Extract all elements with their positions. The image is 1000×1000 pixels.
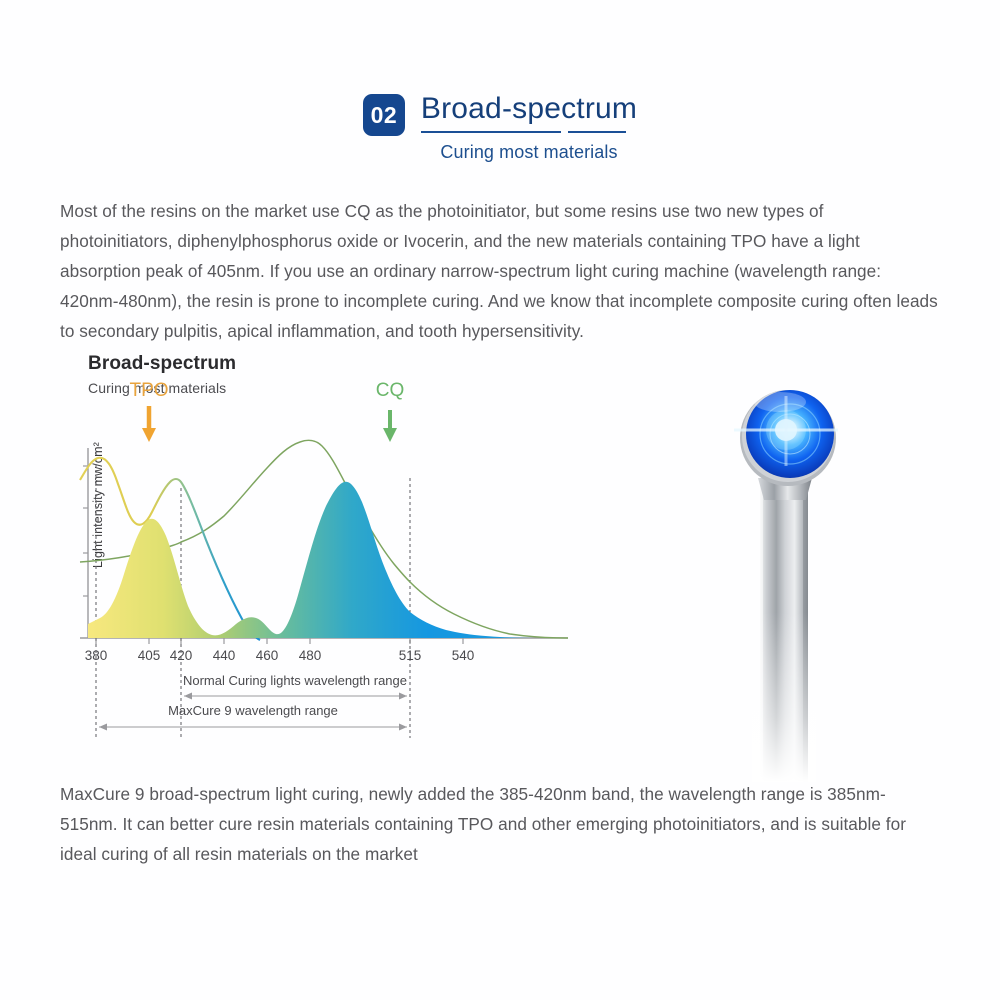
x-tick-label: 405 bbox=[138, 648, 161, 663]
range-normal-curing-label: Normal Curing lights wavelength range bbox=[183, 673, 407, 688]
annotation-tpo: TPO bbox=[129, 380, 168, 442]
section-header: 02 Broad-spectrum Curing most materials bbox=[0, 92, 1000, 163]
x-tick-label: 380 bbox=[85, 648, 108, 663]
series-maxcure-output bbox=[88, 482, 560, 638]
x-tick-label: 515 bbox=[399, 648, 422, 663]
handpiece-fade bbox=[752, 612, 816, 782]
spectrum-chart: Broad-spectrum Curing most materials Lig… bbox=[60, 348, 620, 748]
cq-label: CQ bbox=[376, 380, 405, 401]
x-tick-label: 460 bbox=[256, 648, 279, 663]
chart-x-ticks bbox=[96, 638, 463, 644]
section-header-inner: 02 Broad-spectrum Curing most materials bbox=[363, 92, 637, 163]
title-underline bbox=[421, 131, 637, 133]
summary-paragraph: MaxCure 9 broad-spectrum light curing, n… bbox=[60, 779, 940, 869]
range-maxcure-label: MaxCure 9 wavelength range bbox=[168, 703, 338, 718]
tpo-arrow-head bbox=[142, 428, 156, 442]
chart-y-ticks bbox=[83, 466, 88, 596]
page-title: Broad-spectrum bbox=[421, 92, 637, 126]
page-subtitle: Curing most materials bbox=[421, 142, 637, 163]
cq-arrow-head bbox=[383, 428, 397, 442]
page-root: 02 Broad-spectrum Curing most materials … bbox=[0, 0, 1000, 1000]
range-normal-curing: Normal Curing lights wavelength range bbox=[183, 673, 407, 700]
x-tick-label: 540 bbox=[452, 648, 475, 663]
tpo-label: TPO bbox=[129, 380, 168, 401]
handpiece-illustration bbox=[700, 382, 900, 782]
section-header-text: Broad-spectrum Curing most materials bbox=[421, 92, 637, 163]
range-maxcure: MaxCure 9 wavelength range bbox=[99, 703, 407, 731]
title-underline-segment-right bbox=[568, 131, 626, 133]
chart-x-tick-labels: 380 405 420 440 460 480 515 540 bbox=[85, 648, 475, 663]
title-underline-segment-left bbox=[421, 131, 561, 133]
annotation-cq: CQ bbox=[376, 380, 405, 442]
x-tick-label: 440 bbox=[213, 648, 236, 663]
chart-plot-area: TPO CQ 380 405 420 440 460 480 515 540 bbox=[60, 348, 620, 748]
x-tick-label: 420 bbox=[170, 648, 193, 663]
section-number-badge: 02 bbox=[363, 94, 405, 136]
intro-paragraph: Most of the resins on the market use CQ … bbox=[60, 196, 940, 346]
led-specular-highlight bbox=[754, 392, 806, 412]
x-tick-label: 480 bbox=[299, 648, 322, 663]
curing-light-handpiece bbox=[700, 382, 900, 782]
